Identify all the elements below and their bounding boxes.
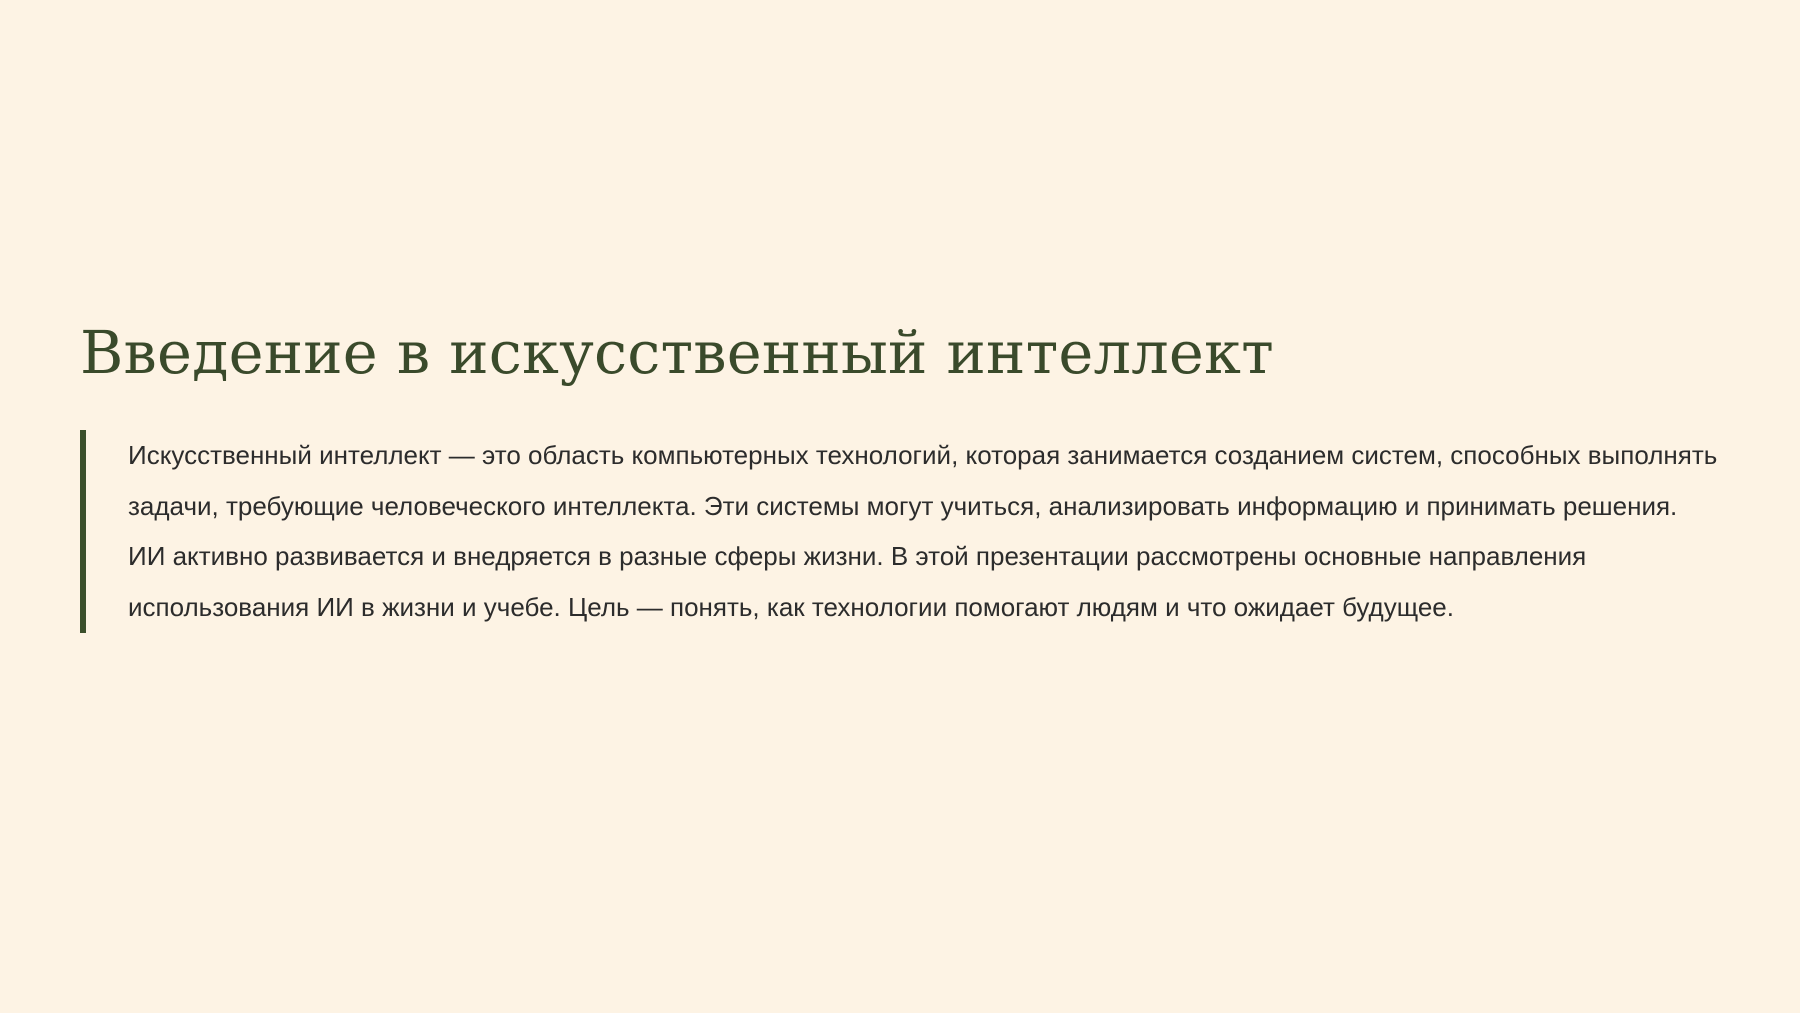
body-paragraph: Искусственный интеллект — это область ко… (128, 430, 1720, 633)
accent-bar (80, 430, 86, 633)
slide-content: Введение в искусственный интеллект Искус… (80, 320, 1720, 633)
slide-canvas: Введение в искусственный интеллект Искус… (0, 0, 1800, 1013)
body-block: Искусственный интеллект — это область ко… (80, 430, 1720, 633)
page-title: Введение в искусственный интеллект (80, 320, 1720, 386)
